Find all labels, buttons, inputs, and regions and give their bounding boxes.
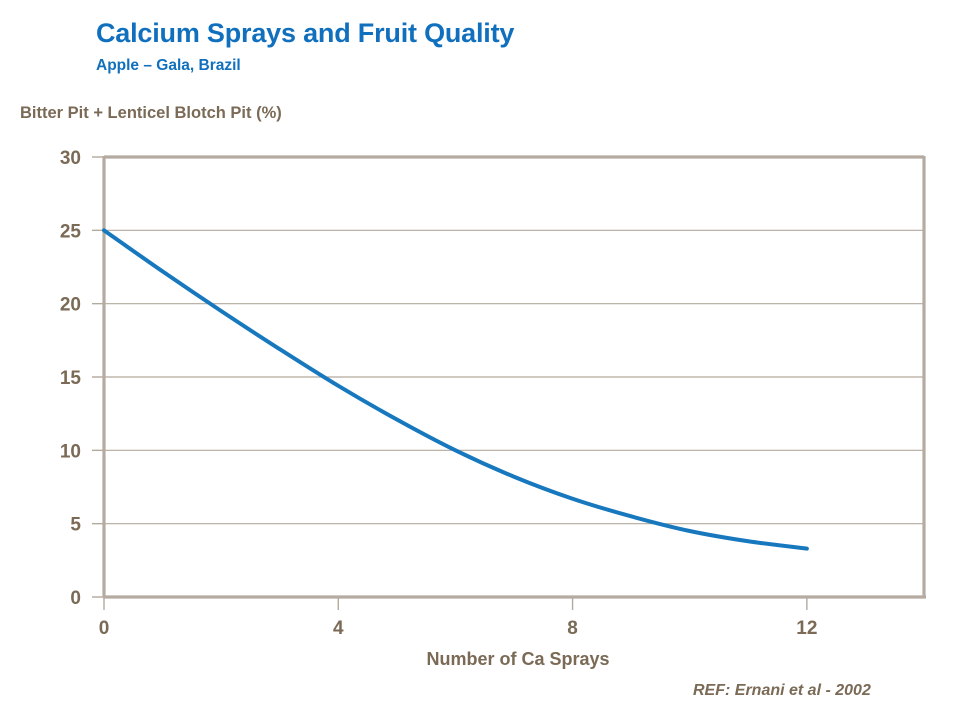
y-tick-label-group: 051015202530 <box>60 148 82 609</box>
data-series-line <box>104 230 807 548</box>
x-tick-label-group: 04812 <box>99 618 818 639</box>
x-tick-label: 12 <box>796 618 817 639</box>
y-tick-label: 5 <box>70 515 81 536</box>
gridline-group <box>104 157 924 524</box>
x-axis-title: Number of Ca Sprays <box>426 649 609 669</box>
y-tick-label: 25 <box>60 221 82 242</box>
y-tick-label: 30 <box>60 148 81 169</box>
reference-note: REF: Ernani et al - 2002 <box>693 682 871 700</box>
y-tick-label: 0 <box>70 588 81 609</box>
line-chart-svg: 051015202530 04812 Number of Ca Sprays <box>0 0 960 720</box>
x-tick-label: 0 <box>99 618 110 639</box>
x-tick-group <box>104 597 807 610</box>
y-tick-label: 20 <box>60 295 81 316</box>
y-tick-group <box>92 157 104 597</box>
y-tick-label: 15 <box>60 368 82 389</box>
y-tick-label: 10 <box>60 441 81 462</box>
x-tick-label: 8 <box>567 618 578 639</box>
x-tick-label: 4 <box>333 618 344 639</box>
chart-plot-area: 051015202530 04812 Number of Ca Sprays <box>0 0 960 720</box>
